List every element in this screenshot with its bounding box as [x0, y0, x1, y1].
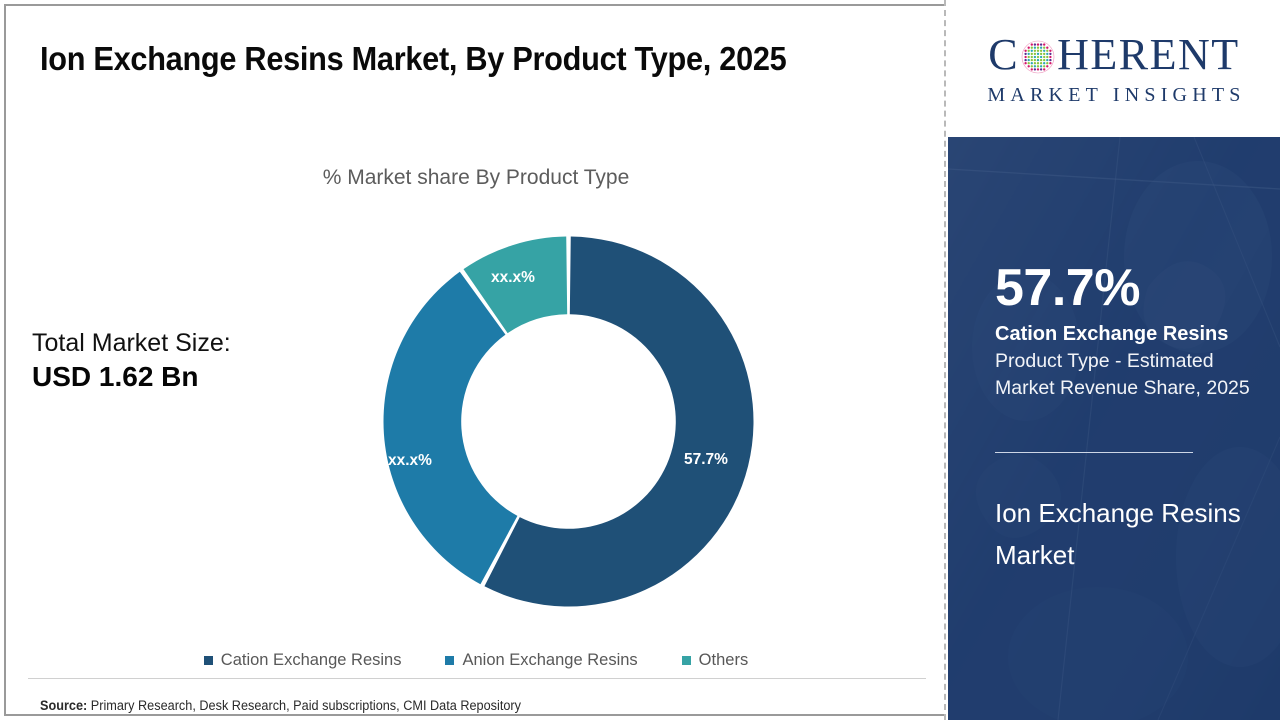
- legend-label: Cation Exchange Resins: [221, 651, 402, 670]
- stat-segment-name: Cation Exchange Resins: [995, 321, 1257, 347]
- legend-swatch-icon: [445, 656, 454, 665]
- panel-divider-rule: [995, 452, 1193, 453]
- logo-letters-herent: HERENT: [1057, 33, 1240, 77]
- donut-chart: 57.7% xx.x% xx.x%: [381, 234, 756, 609]
- market-size-value: USD 1.62 Bn: [32, 359, 332, 396]
- page-title: Ion Exchange Resins Market, By Product T…: [40, 34, 831, 84]
- chart-subtitle: % Market share By Product Type: [6, 166, 946, 190]
- legend-item[interactable]: Cation Exchange Resins: [204, 651, 402, 670]
- source-note: Source: Primary Research, Desk Research,…: [40, 698, 521, 713]
- highlight-panel: 57.7% Cation Exchange Resins Product Typ…: [948, 137, 1280, 720]
- panel-divider: [944, 0, 946, 720]
- panel-market-title: Ion Exchange Resins Market: [995, 492, 1245, 577]
- globe-dot-matrix-icon: [1020, 39, 1056, 75]
- legend-label: Anion Exchange Resins: [462, 651, 637, 670]
- legend-swatch-icon: [682, 656, 691, 665]
- logo-wordmark: C HERENT: [964, 33, 1264, 77]
- source-value: Primary Research, Desk Research, Paid su…: [87, 698, 521, 713]
- legend-item[interactable]: Anion Exchange Resins: [445, 651, 637, 670]
- infographic-canvas: Ion Exchange Resins Market, By Product T…: [0, 0, 1280, 720]
- stat-description: Product Type - Estimated Market Revenue …: [995, 348, 1257, 401]
- chart-legend: Cation Exchange ResinsAnion Exchange Res…: [6, 651, 946, 670]
- market-size-label: Total Market Size:: [32, 328, 332, 359]
- legend-label: Others: [699, 651, 749, 670]
- logo-tagline: MARKET INSIGHTS: [964, 84, 1264, 107]
- total-market-size: Total Market Size: USD 1.62 Bn: [32, 328, 332, 396]
- source-label: Source:: [40, 698, 87, 713]
- legend-item[interactable]: Others: [682, 651, 749, 670]
- chart-card: Ion Exchange Resins Market, By Product T…: [4, 4, 944, 716]
- stat-percentage: 57.7%: [995, 261, 1257, 315]
- logo-letter-c: C: [988, 33, 1019, 77]
- donut-slice: [383, 272, 517, 584]
- panel-background-texture: [948, 137, 1280, 720]
- brand-logo: C HERENT MARKET INSIGHTS: [948, 2, 1280, 137]
- legend-swatch-icon: [204, 656, 213, 665]
- highlight-stat: 57.7% Cation Exchange Resins Product Typ…: [995, 261, 1257, 401]
- source-divider: [28, 678, 926, 679]
- donut-chart-svg: [381, 234, 756, 609]
